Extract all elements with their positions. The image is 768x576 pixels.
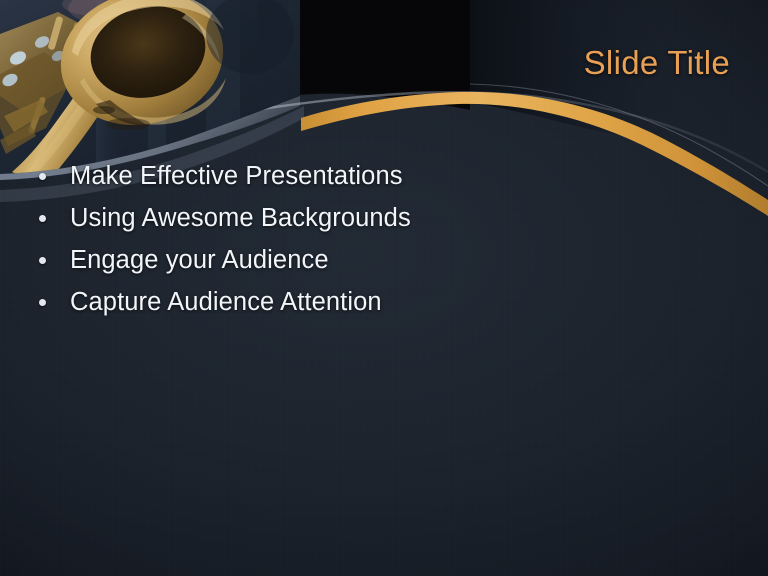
list-item-label: Engage your Audience bbox=[70, 246, 329, 275]
presentation-slide: Slide Title Make Effective Presentations… bbox=[0, 0, 768, 576]
bullet-list: Make Effective Presentations Using Aweso… bbox=[36, 155, 656, 323]
list-item-label: Using Awesome Backgrounds bbox=[70, 204, 411, 233]
bullet-dot-icon bbox=[39, 173, 46, 180]
list-item-label: Capture Audience Attention bbox=[70, 288, 382, 317]
list-item[interactable]: Engage your Audience bbox=[36, 239, 656, 281]
bullet-dot-icon bbox=[39, 299, 46, 306]
list-item[interactable]: Using Awesome Backgrounds bbox=[36, 197, 656, 239]
list-item[interactable]: Make Effective Presentations bbox=[36, 155, 656, 197]
page-title[interactable]: Slide Title bbox=[584, 44, 730, 82]
bullet-dot-icon bbox=[39, 215, 46, 222]
list-item[interactable]: Capture Audience Attention bbox=[36, 281, 656, 323]
list-item-label: Make Effective Presentations bbox=[70, 162, 403, 191]
bullet-dot-icon bbox=[39, 257, 46, 264]
